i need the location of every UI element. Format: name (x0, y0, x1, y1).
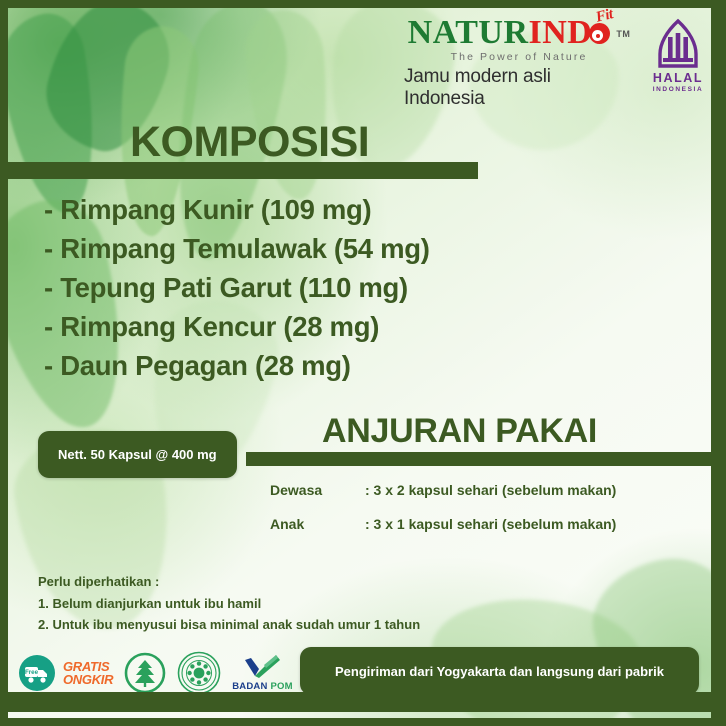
dosage-table: Dewasa : 3 x 2 kapsul sehari (sebelum ma… (270, 482, 710, 550)
free-shipping-label: GRATIS ONGKIR (63, 660, 113, 687)
free-shipping-truck-icon: Free (18, 654, 56, 692)
mui-halal-seal-icon (177, 651, 221, 695)
net-quantity-badge: Nett. 50 Kapsul @ 400 mg (38, 431, 237, 478)
halal-certification-logo: HALAL INDONESIA (642, 16, 714, 93)
list-item: - Rimpang Kunir (109 mg) (44, 190, 514, 229)
list-item: - Tepung Pati Garut (110 mg) (44, 268, 514, 307)
warnings-title: Perlu diperhatikan : (38, 574, 420, 589)
list-item: - Daun Pegagan (28 mg) (44, 346, 514, 385)
composition-divider (8, 162, 478, 179)
wordmark-indo: IND (529, 16, 593, 50)
brand-wordmark-block: NATURIND Fit TM The Power of Nature Jamu… (404, 16, 634, 110)
list-item: - Rimpang Temulawak (54 mg) (44, 229, 514, 268)
frame-border-right (711, 0, 726, 726)
free-shipping-badge: Free GRATIS ONGKIR (18, 654, 113, 692)
fit-script-label: Fit (595, 7, 615, 26)
trademark-icon: TM (616, 30, 630, 39)
dosage-label-adult: Dewasa (270, 482, 365, 498)
product-info-poster: NATURIND Fit TM The Power of Nature Jamu… (0, 0, 726, 726)
warnings-section: Perlu diperhatikan : 1. Belum dianjurkan… (38, 574, 420, 638)
list-item: 1. Belum dianjurkan untuk ibu hamil (38, 596, 420, 611)
bpom-swoosh-icon (242, 654, 282, 680)
ingredient-list: - Rimpang Kunir (109 mg) - Rimpang Temul… (44, 190, 514, 385)
list-item: 2. Untuk ibu menyusui bisa minimal anak … (38, 617, 420, 632)
dosage-label-child: Anak (270, 516, 365, 532)
frame-border-left (0, 0, 8, 726)
usage-divider (246, 452, 712, 466)
halal-mark-icon (650, 18, 706, 70)
yin-yang-circle-icon (589, 23, 610, 44)
naturindo-wordmark: NATURIND Fit TM (408, 16, 631, 50)
brand-header: NATURIND Fit TM The Power of Nature Jamu… (404, 16, 714, 102)
svg-text:Free: Free (25, 669, 39, 676)
usage-heading: ANJURAN PAKAI (322, 412, 597, 451)
list-item: - Rimpang Kencur (28 mg) (44, 307, 514, 346)
bpom-badge: BADAN POM (232, 654, 293, 692)
fit-logo-icon: Fit (589, 18, 615, 44)
dosage-value-child: : 3 x 1 kapsul sehari (sebelum makan) (365, 516, 710, 532)
dosage-value-adult: : 3 x 2 kapsul sehari (sebelum makan) (365, 482, 710, 498)
bpom-label-badan: BADAN (232, 681, 267, 692)
free-shipping-line1: GRATIS (63, 660, 113, 673)
wordmark-natur: NATUR (408, 16, 529, 50)
bpom-label-pom: POM (271, 681, 293, 692)
frame-bottom-bar (8, 692, 712, 712)
brand-tagline: The Power of Nature (451, 51, 588, 63)
tree-seal-icon (124, 652, 166, 694)
frame-border-top (0, 0, 726, 8)
leaf-shape (0, 9, 109, 220)
shipping-origin-banner: Pengiriman dari Yogyakarta dan langsung … (300, 647, 699, 695)
frame-border-bottom (0, 718, 726, 726)
halal-label: HALAL (653, 71, 703, 85)
table-row: Anak : 3 x 1 kapsul sehari (sebelum maka… (270, 516, 710, 532)
brand-subtitle: Jamu modern asli Indonesia (404, 66, 634, 110)
table-row: Dewasa : 3 x 2 kapsul sehari (sebelum ma… (270, 482, 710, 498)
certification-badges: Free GRATIS ONGKIR (18, 651, 293, 695)
free-shipping-line2: ONGKIR (63, 673, 113, 686)
halal-sublabel: INDONESIA (653, 86, 704, 93)
composition-heading: KOMPOSISI (130, 118, 369, 167)
